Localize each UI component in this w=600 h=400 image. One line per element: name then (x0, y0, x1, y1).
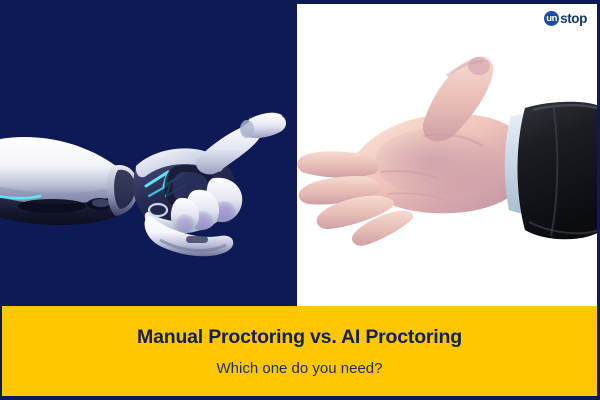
robot-forearm-vent-gloss (92, 199, 110, 207)
robot-thumb-panel-line (186, 236, 208, 243)
left-panel-robot (0, 0, 297, 306)
robot-hand-illustration (0, 0, 297, 306)
unstop-logo-mark-icon: un (544, 11, 559, 26)
banner-title: Manual Proctoring vs. AI Proctoring (137, 328, 462, 348)
robot-forearm-vent-large (18, 199, 86, 213)
caption-banner: Manual Proctoring vs. AI Proctoring Whic… (2, 306, 597, 396)
banner-subtitle: Which one do you need? (217, 361, 383, 376)
right-panel-white-surface (297, 4, 597, 306)
unstop-logo-wordmark: stop (560, 11, 587, 26)
human-hand-illustration (297, 4, 597, 306)
hero-split-section: un stop (0, 0, 600, 306)
human-thumb-tip (468, 57, 490, 75)
right-panel-human: un stop (297, 0, 600, 306)
robot-pinky-fingertip-glow (176, 214, 194, 232)
unstop-logo[interactable]: un stop (544, 11, 587, 26)
robot-index-knuckle (240, 120, 254, 138)
poster-canvas: un stop Manual Proctoring vs. AI Proctor… (0, 0, 600, 400)
bottom-border-strip (0, 396, 600, 400)
